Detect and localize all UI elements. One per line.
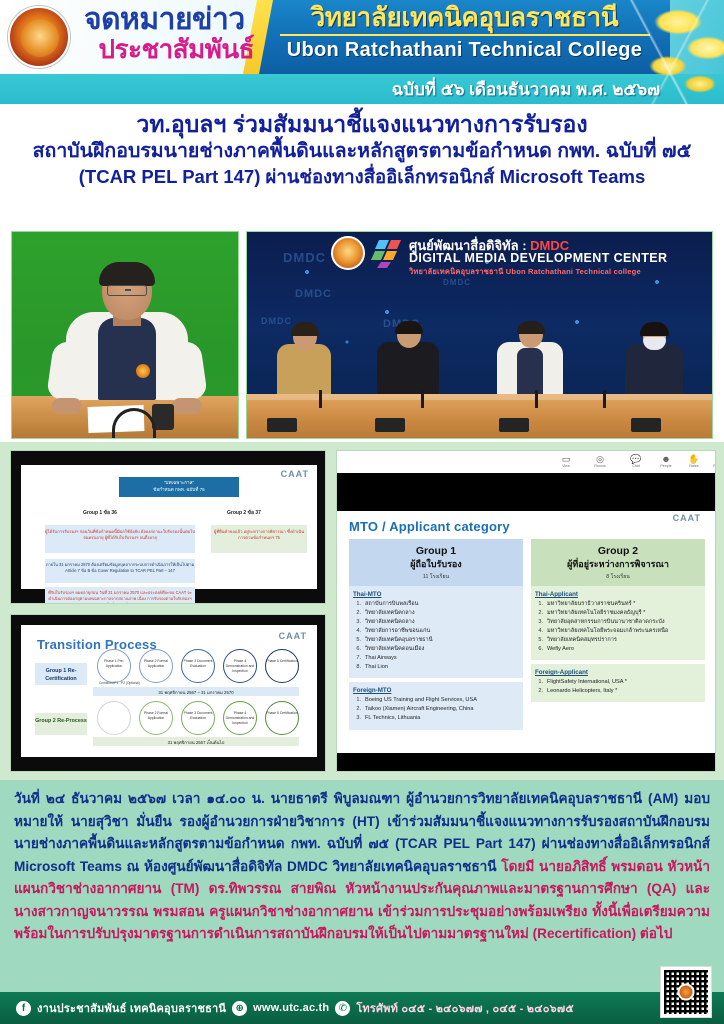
dmdc-subtitle: วิทยาลัยเทคนิคอุบลราชธานี Ubon Ratchatha… — [409, 266, 641, 278]
hair — [291, 322, 319, 336]
facebook-icon[interactable]: f — [16, 1001, 31, 1016]
toolbar-rooms[interactable]: ◎ Rooms — [585, 454, 615, 468]
dmdc-watermark: DMDC — [283, 250, 326, 265]
body — [625, 344, 683, 394]
microphone-base — [267, 418, 297, 432]
photo-conference-room: DMDC DMDC DMDC DMDC DMDC ศูนย์พัฒนาสื่อด… — [246, 231, 713, 439]
group1-column: Group 1 ผู้ถือใบรับรอง 11 โรงเรียน Thai-… — [349, 539, 523, 730]
list-item-text: มหาวิทยาลัยเทคโนโลยีพระจอมเกล้าพระนครเหน… — [547, 627, 668, 636]
clause-top-line2: ข้อกำหนด กพท. ฉบับที่ 75 — [119, 487, 239, 494]
hand-left — [52, 398, 82, 414]
list-item-text: มหาวิทยาลัยเทคโนโลยีราชมงคลธัญบุรี * — [547, 609, 645, 618]
footer-website-text[interactable]: www.utc.ac.th — [253, 1002, 329, 1014]
microphone-base — [499, 418, 529, 432]
phase-circle: Phase 5 Certification — [265, 701, 299, 735]
hair — [395, 321, 423, 334]
list-item: 6.Wefly Aero — [535, 645, 701, 654]
college-name-th: วิทยาลัยเทคนิคอุบลราชธานี — [272, 3, 657, 32]
article-body: วันที่ ๒๔ ธันวาคม ๒๕๖๗ เวลา ๑๔.๐๐ น. นาย… — [0, 780, 724, 992]
list-item: 6.วิทยาลัยเทคนิคดอนเมือง — [353, 645, 519, 654]
headline-line-2: สถาบันฝึกอบรมนายช่างภาคพื้นดินและหลักสูต… — [0, 139, 724, 164]
slide-transition-process[interactable]: Transition Process CAAT Group 1 Re-Certi… — [10, 614, 326, 772]
toolbar-view-label: View — [551, 464, 581, 468]
list-item-text: วิทยาลัยเทคนิคดอนเมือง — [365, 645, 424, 654]
headline-line-3: (TCAR PEL Part 147) ผ่านช่องทางสื่ออิเล็… — [0, 165, 724, 190]
toolbar-people-label: People — [651, 464, 681, 468]
college-seal-icon — [331, 236, 365, 270]
group2-badge: Group 2 Re-Process — [35, 713, 87, 735]
hair — [99, 262, 155, 286]
toolbar-people[interactable]: ☻ People — [651, 454, 681, 468]
slide-b-canvas: Transition Process CAAT Group 1 Re-Certi… — [21, 625, 317, 757]
shirt-emblem — [136, 364, 150, 378]
list-item: 2.Leonardo Helicopters, Italy * — [535, 687, 701, 696]
headline-block: วท.อุบลฯ ร่วมสัมมนาชี้แจงแนวทางการรับรอง… — [0, 104, 724, 230]
group2-count: 8 โรงเรียน — [533, 573, 703, 581]
group2-thai-label: Thai-Applicant — [535, 591, 701, 598]
slide-transition-clause[interactable]: CAAT "บทเฉพาะกาล" ข้อกำหนด กพท. ฉบับที่ … — [10, 450, 326, 604]
slide-b-title: Transition Process — [37, 637, 157, 652]
page-header: จดหมายข่าว ประชาสัมพันธ์ วิทยาลัยเทคนิคอ… — [0, 0, 724, 104]
phase-circle: Phase 2 Formal Application — [139, 649, 173, 683]
list-item: 8.Thai Lion — [353, 663, 519, 672]
group1-description-box: ผู้ได้รับการรับรองฯ ก่อนวันที่ข้อกำหนดนี… — [45, 525, 195, 553]
group1-heading: Group 1 — [351, 545, 521, 557]
caat-logo: CAAT — [673, 513, 701, 523]
microphone-base — [631, 418, 661, 432]
toolbar-rooms-label: Rooms — [585, 464, 615, 468]
group1-badge: Group 1 Re-Certification — [35, 663, 87, 685]
footer-phone-text: โทรศัพท์ ๐๔๕ - ๒๔๐๖๗๗ , ๐๔๕ - ๒๔๐๖๗๕ — [356, 999, 574, 1017]
group1-thai-label: Thai-MTO — [353, 591, 519, 598]
list-item-text: วิทยาลัยเทคนิคอุบลราชธานี — [365, 636, 433, 645]
list-item: 1.สถาบันการบินพลเรือน — [353, 600, 519, 609]
rooms-icon: ◎ — [585, 454, 615, 464]
list-item: 7.Thai Airways — [353, 654, 519, 663]
slide-c-title: MTO / Applicant category — [349, 519, 510, 534]
microphone-icon — [603, 390, 606, 408]
group2-header: Group 2 ผู้ที่อยู่ระหว่างการพิจารณา 8 โร… — [531, 539, 705, 586]
globe-icon[interactable]: ⊕ — [232, 1001, 247, 1016]
group1-count: 11 โรงเรียน — [351, 573, 521, 581]
list-item: 3.วิทยาลัยเทคนิคถลาง — [353, 618, 519, 627]
qr-code-pattern — [664, 970, 708, 1014]
dmdc-title-en: DIGITAL MEDIA DEVELOPMENT CENTER — [409, 251, 667, 265]
dmdc-watermark: DMDC — [295, 288, 332, 300]
slides-gallery: CAAT "บทเฉพาะกาล" ข้อกำหนด กพท. ฉบับที่ … — [0, 442, 724, 780]
list-item-text: มหาวิทยาลัยนราธิวาสราชนครินทร์ * — [547, 600, 635, 609]
list-item: 5.วิทยาลัยเทคนิคสมุทรปราการ — [535, 636, 701, 645]
phone-icon[interactable]: ✆ — [335, 1001, 350, 1016]
phase-circle: Phase 1 Pre-Application — [97, 649, 131, 683]
footer-contact-row: f งานประชาสัมพันธ์ เทคนิคอุบลราชธานี ⊕ w… — [16, 999, 574, 1017]
clause-box-2: ภายใน 31 มกราคม 2570 ต้องเตรียมข้อมูลบุค… — [45, 559, 195, 583]
dmdc-watermark: DMDC — [443, 278, 471, 287]
slide-mto-applicant-category[interactable]: ▭ View ◎ Rooms 💬 Chat ☻ People ✋ Rais — [336, 450, 716, 772]
group1-timeline: 31 พฤศจิกายน 2567 – 31 มกราคม 2570 — [93, 687, 299, 696]
list-item: 3.FL Technics, Lithuania — [353, 714, 519, 723]
clause-top-box: "บทเฉพาะกาล" ข้อกำหนด กพท. ฉบับที่ 75 — [119, 477, 239, 497]
phase-circle: Phase 2 Formal Application — [139, 701, 173, 735]
caat-logo: CAAT — [281, 469, 309, 479]
qr-code[interactable] — [660, 966, 712, 1018]
toolbar-chat-label: Chat — [621, 464, 651, 468]
list-item: 2.Taikoo (Xiamen) Aircraft Engineering, … — [353, 705, 519, 714]
group2-heading-th: ผู้ที่อยู่ระหว่างการพิจารณา — [533, 557, 703, 571]
group1-note: Combined P1 - P2 (Optional) — [99, 681, 140, 685]
group2-foreign-section: Foreign-Applicant 1.FlightSafety Interna… — [531, 664, 705, 702]
toolbar-chat[interactable]: 💬 Chat — [621, 454, 651, 468]
group2-thai-section: Thai-Applicant 1.มหาวิทยาลัยนราธิวาสราชน… — [531, 586, 705, 660]
list-item: 1.FlightSafety International, USA * — [535, 678, 701, 687]
group1-thai-section: Thai-MTO 1.สถาบันการบินพลเรือน 2.วิทยาลั… — [349, 586, 523, 678]
caat-logo: CAAT — [279, 631, 307, 641]
microphone-icon — [421, 390, 424, 408]
body — [277, 344, 331, 394]
shirt — [517, 348, 543, 394]
group2-column: Group 2 ผู้ที่อยู่ระหว่างการพิจารณา 8 โร… — [531, 539, 705, 702]
group1-label: Group 1 ข้อ 36 — [83, 509, 117, 517]
microphone-base — [375, 418, 405, 432]
list-item: 3.วิทยาลัยอุตสาหกรรมการบินนานาชาติลาดกระ… — [535, 618, 701, 627]
clause-box-3: ที่รับใบรับรองฯ หมดอายุก่อน วันที่ 31 มก… — [45, 587, 195, 604]
list-item: 4.มหาวิทยาลัยเทคโนโลยีพระจอมเกล้าพระนครเ… — [535, 627, 701, 636]
group2-heading: Group 2 — [533, 545, 703, 557]
view-icon: ▭ — [551, 454, 581, 464]
clause-top-line1: "บทเฉพาะกาล" — [119, 480, 239, 487]
slide-a-canvas: CAAT "บทเฉพาะกาล" ข้อกำหนด กพท. ฉบับที่ … — [21, 465, 317, 589]
list-item-text: FL Technics, Lithuania — [365, 714, 420, 723]
dmdc-watermark: DMDC — [261, 316, 292, 326]
list-item-text: Thai Airways — [365, 654, 397, 663]
footer-facebook-text: งานประชาสัมพันธ์ เทคนิคอุบลราชธานี — [37, 999, 226, 1017]
eyeglasses-icon — [107, 285, 147, 296]
header-divider — [280, 34, 650, 36]
hand-right — [172, 398, 202, 414]
slide-letterbox-top — [337, 473, 715, 511]
college-name-en: Ubon Ratchathani Technical College — [272, 38, 657, 62]
phase-circle: Phase 4 Demonstration and Inspection — [223, 701, 257, 735]
slide-letterbox-bottom — [337, 753, 715, 771]
list-item-text: วิทยาลัยเทคนิคสมุทรปราการ — [547, 636, 617, 645]
list-item-text: Taikoo (Xiamen) Aircraft Engineering, Ch… — [365, 705, 474, 714]
photo-speaker-greenscreen — [11, 231, 239, 439]
flower-decoration — [604, 0, 724, 104]
phase-circle: Phase 4 Demonstration and Inspection — [223, 649, 257, 683]
group1-foreign-section: Foreign-MTO 1.Boeing US Training and Fli… — [349, 682, 523, 729]
list-item-text: วิทยาลัยเทคนิคกลาง — [365, 609, 415, 618]
body — [377, 342, 439, 394]
dmdc-pinwheel-icon — [371, 238, 405, 268]
people-icon: ☻ — [651, 454, 681, 464]
list-item-text: Leonardo Helicopters, Italy * — [547, 687, 617, 696]
college-seal-logo — [8, 6, 70, 68]
polo-shirt — [98, 318, 156, 400]
group1-header: Group 1 ผู้ถือใบรับรอง 11 โรงเรียน — [349, 539, 523, 586]
list-item: 1.Boeing US Training and Flight Services… — [353, 696, 519, 705]
group2-timeline: 31 พฤศจิกายน 2567 เป็นต้นไป — [93, 737, 299, 746]
newsletter-title-th: จดหมายข่าว — [84, 4, 249, 36]
group1-foreign-label: Foreign-MTO — [353, 687, 519, 694]
teams-toolbar: ▭ View ◎ Rooms 💬 Chat ☻ People ✋ Rais — [337, 451, 715, 473]
hair — [640, 322, 669, 336]
list-item-text: วิทยาลัยเทคนิคถลาง — [365, 618, 415, 627]
toolbar-react-label: React — [703, 464, 716, 468]
group1-heading-th: ผู้ถือใบรับรอง — [351, 557, 521, 571]
toolbar-view[interactable]: ▭ View — [551, 454, 581, 468]
list-item: 5.วิทยาลัยเทคนิคอุบลราชธานี — [353, 636, 519, 645]
toolbar-react[interactable]: ☺ React — [703, 454, 716, 468]
list-item: 2.วิทยาลัยเทคนิคกลาง — [353, 609, 519, 618]
phase-circle: Phase 5 Certification — [265, 649, 299, 683]
headline-line-1: วท.อุบลฯ ร่วมสัมมนาชี้แจงแนวทางการรับรอง — [0, 110, 724, 139]
list-item-text: สถาบันการบินพลเรือน — [365, 600, 418, 609]
list-item-text: วิทยาลัยการอาชีพขอนแก่น — [365, 627, 430, 636]
microphone-icon — [319, 390, 322, 408]
chat-icon: 💬 — [621, 454, 651, 464]
list-item-text: Thai Lion — [365, 663, 388, 672]
list-item-text: Boeing US Training and Flight Services, … — [365, 696, 477, 705]
article-paragraph: วันที่ ๒๔ ธันวาคม ๒๕๖๗ เวลา ๑๔.๐๐ น. นาย… — [14, 788, 710, 946]
list-item: 1.มหาวิทยาลัยนราธิวาสราชนครินทร์ * — [535, 600, 701, 609]
list-item-text: FlightSafety International, USA * — [547, 678, 627, 687]
group2-label: Group 2 ข้อ 37 — [227, 509, 261, 517]
group2-description-box: ผู้ที่ยื่นคำขอแล้ว อยู่ระหว่างการพิจารณา… — [211, 525, 307, 553]
newsletter-subtitle-th: ประชาสัมพันธ์ — [84, 36, 254, 63]
phase-circle: Phase 3 Document Evaluation — [181, 649, 215, 683]
phase-circle-empty — [97, 701, 131, 735]
page-footer: f งานประชาสัมพันธ์ เทคนิคอุบลราชธานี ⊕ w… — [0, 992, 724, 1024]
list-item: 2.มหาวิทยาลัยเทคโนโลยีราชมงคลธัญบุรี * — [535, 609, 701, 618]
list-item: 4.วิทยาลัยการอาชีพขอนแก่น — [353, 627, 519, 636]
group2-foreign-label: Foreign-Applicant — [535, 669, 701, 676]
photo-row: DMDC DMDC DMDC DMDC DMDC ศูนย์พัฒนาสื่อด… — [0, 228, 724, 442]
newsletter-page: จดหมายข่าว ประชาสัมพันธ์ วิทยาลัยเทคนิคอ… — [0, 0, 724, 1024]
microphone-icon — [535, 390, 538, 408]
phase-circle: Phase 3 Document Evaluation — [181, 701, 215, 735]
list-item-text: Wefly Aero — [547, 645, 574, 654]
react-icon: ☺ — [703, 454, 716, 464]
list-item-text: วิทยาลัยอุตสาหกรรมการบินนานาชาติลาดกระบั… — [547, 618, 665, 627]
hair — [517, 321, 545, 334]
